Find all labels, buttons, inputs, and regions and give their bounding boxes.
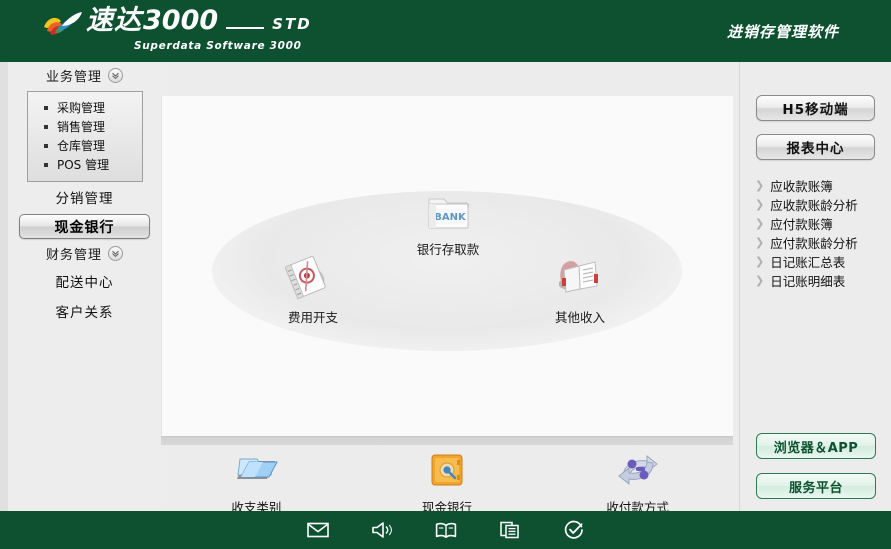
sidebar-item-warehouse[interactable]: 仓库管理: [28, 136, 142, 155]
tool-payment-method[interactable]: 收付款方式: [583, 451, 693, 516]
chevron-down-circle-icon[interactable]: [108, 246, 123, 261]
sidebar-item-label: POS 管理: [57, 156, 109, 173]
brand-subtitle: Superdata Software 3000: [134, 40, 312, 52]
sidebar-item-label: 销售管理: [57, 118, 105, 135]
tool-income-expense-category[interactable]: 收支类别: [201, 451, 311, 516]
exchange-arrows-icon: [615, 451, 661, 493]
expense-notebook-icon: [284, 252, 342, 304]
svg-text:BANK: BANK: [434, 212, 467, 223]
bullet-icon: [44, 125, 48, 129]
app-header: 速达 3000 STD Superdata Software 3000 进销存管…: [0, 0, 891, 62]
check-circle-icon[interactable]: [561, 519, 587, 541]
service-platform-button[interactable]: 服务平台: [756, 473, 876, 499]
report-link-receivable-aging[interactable]: ❯ 应收款账龄分析: [755, 195, 891, 214]
sidebar-item-purchase[interactable]: 采购管理: [28, 98, 142, 117]
chevron-right-icon: ❯: [755, 179, 764, 192]
report-link-journal-detail[interactable]: ❯ 日记账明细表: [755, 271, 891, 290]
button-label: 报表中心: [787, 137, 845, 157]
report-link-label: 日记账明细表: [770, 271, 845, 290]
brand-number: 3000: [143, 6, 218, 36]
report-link-label: 应付款账龄分析: [770, 233, 858, 252]
sidebar-item-pos[interactable]: POS 管理: [28, 155, 142, 174]
brand-logo-block: 速达 3000 STD Superdata Software 3000: [40, 6, 312, 56]
book-icon[interactable]: [433, 519, 459, 541]
workflow-canvas: BANK 银行存取款: [161, 96, 733, 436]
chevron-right-icon: ❯: [755, 255, 764, 268]
bank-folder-icon: BANK: [425, 192, 471, 236]
report-link-payable-ledger[interactable]: ❯ 应付款账簿: [755, 214, 891, 233]
tool-cash-bank[interactable]: 现金银行: [392, 451, 502, 516]
sidebar-group-business[interactable]: 业务管理: [8, 62, 161, 88]
bullet-icon: [44, 106, 48, 110]
workflow-node-expense[interactable]: 费用开支: [253, 252, 373, 326]
status-bar: [0, 511, 891, 549]
report-link-label: 应收款账龄分析: [770, 195, 858, 214]
report-link-label: 应收款账簿: [770, 176, 833, 195]
chevron-down-circle-icon[interactable]: [108, 68, 123, 83]
sidebar-item-label: 分销管理: [56, 187, 114, 207]
workflow-node-label: 其他收入: [555, 307, 605, 326]
chevron-right-icon: ❯: [755, 198, 764, 211]
button-label: H5移动端: [782, 98, 848, 118]
sidebar-item-label: 采购管理: [57, 99, 105, 116]
button-label: 浏览器＆APP: [774, 437, 859, 456]
sidebar: 业务管理 采购管理 销售管理 仓库管理 POS 管理: [8, 62, 161, 511]
sidebar-item-label: 配送中心: [56, 271, 114, 291]
report-link-list: ❯ 应收款账簿 ❯ 应收款账龄分析 ❯ 应付款账簿 ❯ 应付款账龄分析 ❯ 日记…: [740, 176, 891, 290]
report-link-journal-summary[interactable]: ❯ 日记账汇总表: [755, 252, 891, 271]
service-platform-button-wrap: 服务平台: [740, 473, 891, 499]
sidebar-item-sales[interactable]: 销售管理: [28, 117, 142, 136]
report-link-receivable-ledger[interactable]: ❯ 应收款账簿: [755, 176, 891, 195]
sidebar-item-cash-bank[interactable]: 现金银行: [19, 214, 150, 239]
chevron-right-icon: ❯: [755, 236, 764, 249]
sidebar-item-label: 仓库管理: [57, 137, 105, 154]
sidebar-item-crm[interactable]: 客户关系: [8, 296, 161, 326]
sidebar-item-label: 财务管理: [46, 244, 102, 263]
application-window: 速达 3000 STD Superdata Software 3000 进销存管…: [0, 0, 891, 549]
speaker-icon[interactable]: [369, 519, 395, 541]
blue-folder-icon: [233, 451, 279, 493]
left-rail: [0, 62, 8, 511]
brand-divider-dash: [226, 27, 264, 29]
workflow-node-label: 银行存取款: [417, 239, 480, 258]
browser-app-button[interactable]: 浏览器＆APP: [756, 433, 876, 459]
report-center-button[interactable]: 报表中心: [756, 134, 875, 160]
sidebar-item-label: 客户关系: [56, 301, 114, 321]
right-panel: H5移动端 报表中心 ❯ 应收款账簿 ❯ 应收款账龄分析 ❯ 应付款账簿 ❯ 应…: [739, 62, 891, 511]
report-link-label: 应付款账簿: [770, 214, 833, 233]
orange-safe-icon: [427, 451, 467, 493]
sidebar-item-delivery[interactable]: 配送中心: [8, 266, 161, 296]
bullet-icon: [44, 163, 48, 167]
sidebar-group-label: 业务管理: [46, 66, 102, 85]
income-book-icon: [551, 252, 609, 304]
copy-documents-icon[interactable]: [497, 519, 523, 541]
sidebar-item-distribution[interactable]: 分销管理: [8, 182, 161, 212]
sidebar-item-finance[interactable]: 财务管理: [8, 240, 161, 266]
main-content: BANK 银行存取款: [161, 62, 739, 511]
report-link-label: 日记账汇总表: [770, 252, 845, 271]
report-link-payable-aging[interactable]: ❯ 应付款账龄分析: [755, 233, 891, 252]
button-label: 服务平台: [789, 477, 843, 496]
chevron-right-icon: ❯: [755, 274, 764, 287]
content-divider: [161, 436, 733, 445]
brand-name-cn: 速达: [86, 6, 142, 36]
h5-mobile-button[interactable]: H5移动端: [756, 95, 875, 121]
header-tagline: 进销存管理软件: [727, 21, 839, 42]
tool-shortcut-bar: 收支类别 现金银行: [161, 445, 733, 511]
workflow-node-label: 费用开支: [288, 307, 338, 326]
browser-app-button-wrap: 浏览器＆APP: [740, 433, 891, 459]
workflow-node-other-income[interactable]: 其他收入: [520, 252, 640, 326]
butterfly-logo-icon: [40, 10, 84, 40]
sidebar-item-label: 现金银行: [55, 217, 115, 237]
brand-edition: STD: [272, 9, 312, 39]
sidebar-submenu: 采购管理 销售管理 仓库管理 POS 管理: [27, 91, 143, 182]
workflow-node-bank-deposit[interactable]: BANK 银行存取款: [388, 192, 508, 258]
bullet-icon: [44, 144, 48, 148]
chevron-right-icon: ❯: [755, 217, 764, 230]
brand-title: 速达 3000 STD: [86, 6, 312, 39]
mail-icon[interactable]: [305, 519, 331, 541]
